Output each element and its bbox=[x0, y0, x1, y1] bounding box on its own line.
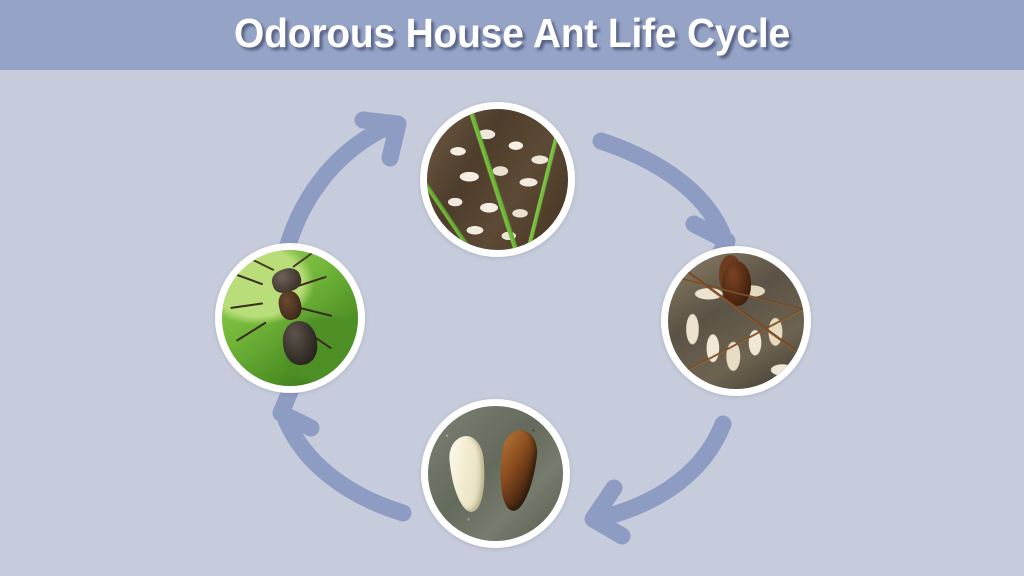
page-title: Odorous House Ant Life Cycle bbox=[26, 0, 999, 70]
life-cycle-slide: Odorous House Ant Life Cycle bbox=[0, 0, 1024, 576]
ant-leg-icon bbox=[235, 321, 266, 342]
ant-larvae-with-worker-photo bbox=[668, 253, 804, 389]
stage-circle-larvae[interactable] bbox=[661, 246, 811, 396]
ant-pupae-pair-photo bbox=[428, 406, 563, 541]
ant-antenna-icon bbox=[249, 257, 274, 271]
ant-leg-icon bbox=[298, 276, 327, 288]
ant-thorax bbox=[276, 289, 303, 321]
ant-gaster bbox=[280, 319, 320, 367]
arrow-pupae-to-adult bbox=[281, 382, 403, 513]
ant-leg-icon bbox=[299, 307, 331, 317]
stage-circle-adult[interactable] bbox=[215, 243, 365, 393]
ant-antenna-icon bbox=[292, 252, 313, 268]
stage-circle-pupae[interactable] bbox=[421, 399, 570, 548]
stage-circle-eggs[interactable] bbox=[420, 102, 575, 257]
ant-leg-icon bbox=[230, 302, 263, 309]
ant-eggs-on-soil-photo bbox=[427, 109, 568, 250]
adult-odorous-house-ant-photo bbox=[222, 250, 358, 386]
ant-leg-icon bbox=[234, 272, 263, 284]
arrow-larvae-to-pupae bbox=[593, 424, 723, 536]
